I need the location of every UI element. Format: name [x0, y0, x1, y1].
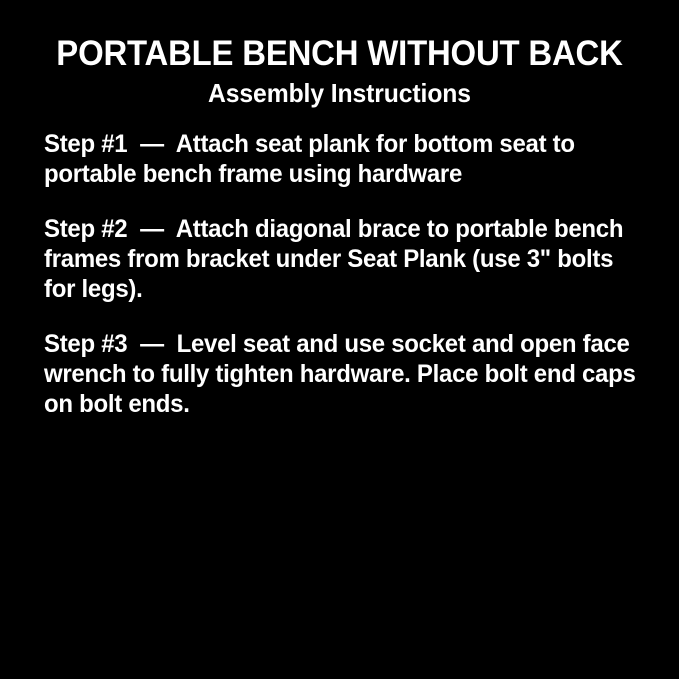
step-dash-3: — — [127, 330, 176, 358]
step-label-2: Step #2 — [44, 215, 127, 243]
step-dash-2: — — [127, 215, 175, 243]
instruction-poster: PORTABLE BENCH WITHOUT BACK Assembly Ins… — [0, 0, 679, 679]
poster-heading: PORTABLE BENCH WITHOUT BACK Assembly Ins… — [0, 0, 679, 109]
step-label-1: Step #1 — [44, 130, 127, 158]
step-item-1: Step #1 — Attach seat plank for bottom s… — [44, 129, 639, 189]
assembly-steps-list: Step #1 — Attach seat plank for bottom s… — [0, 109, 679, 419]
page-subtitle: Assembly Instructions — [17, 77, 662, 109]
step-dash-1: — — [127, 130, 175, 158]
step-item-3: Step #3 — Level seat and use socket and … — [44, 329, 639, 419]
step-item-2: Step #2 — Attach diagonal brace to porta… — [44, 214, 639, 304]
step-label-3: Step #3 — [44, 330, 127, 358]
page-title: PORTABLE BENCH WITHOUT BACK — [20, 34, 658, 74]
